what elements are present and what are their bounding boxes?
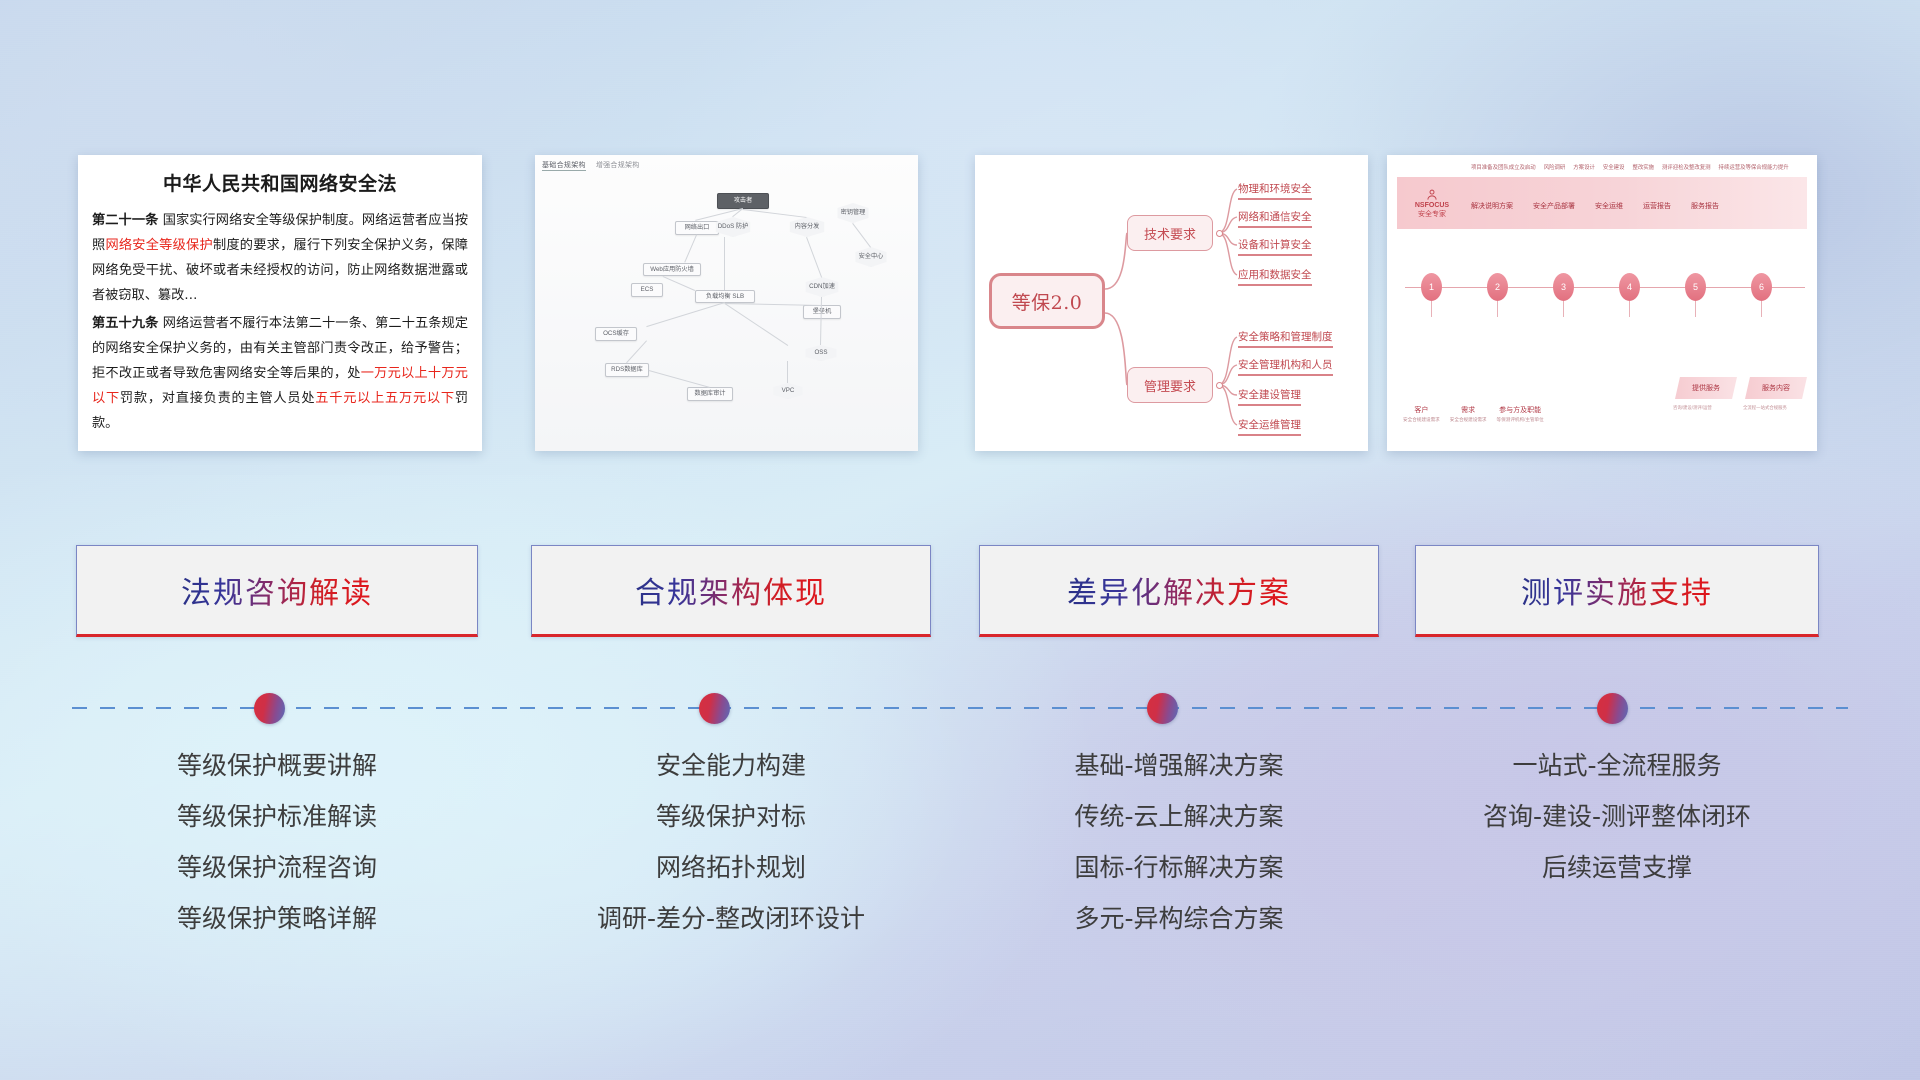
mindmap-leaf: 安全运维管理 bbox=[1238, 417, 1301, 436]
mindmap-collapse-dot-technical bbox=[1216, 230, 1223, 237]
service-list-item: 国标-行标解决方案 bbox=[979, 842, 1379, 893]
service-deliverable-label: 运营报告 bbox=[1643, 201, 1671, 211]
architecture-connector bbox=[725, 303, 822, 306]
service-step-number: 3 bbox=[1553, 273, 1574, 301]
architecture-connector bbox=[684, 235, 697, 263]
law-article-59-highlight-2: 五千元以上五万元以下 bbox=[315, 391, 455, 406]
architecture-node: OSS bbox=[803, 345, 839, 361]
slide-stage: 中华人民共和国网络安全法 第二十一条 国家实行网络安全等级保护制度。网络运营者应… bbox=[0, 0, 1920, 1080]
timeline-dashed-line bbox=[72, 707, 1848, 709]
category-label-row: 法规咨询解读 合规架构体现 差异化解决方案 测评实施支持 bbox=[0, 545, 1920, 637]
service-list-item: 等级保护策略详解 bbox=[76, 893, 478, 944]
service-tag-service-content-sub: 全流程一站式合规服务 bbox=[1743, 405, 1787, 411]
service-list-item: 咨询-建设-测评整体闭环 bbox=[1415, 791, 1819, 842]
service-step-tick bbox=[1431, 301, 1432, 317]
service-list-item: 安全能力构建 bbox=[531, 740, 931, 791]
architecture-node: DDoS 防护 bbox=[713, 217, 753, 237]
service-list-item: 一站式-全流程服务 bbox=[1415, 740, 1819, 791]
service-footer-item: 客户安全合规建设需求 bbox=[1403, 405, 1440, 423]
mindmap-root-node: 等保2.0 bbox=[989, 273, 1105, 329]
service-list-item: 网络拓扑规划 bbox=[531, 842, 931, 893]
mindmap-leaf: 网络和通信安全 bbox=[1238, 209, 1312, 228]
mindmap-leaf: 安全建设管理 bbox=[1238, 387, 1301, 406]
timeline-marker-4[interactable] bbox=[1597, 693, 1628, 724]
service-phase-label: 整改实施 bbox=[1632, 163, 1654, 171]
service-list-column-4: 一站式-全流程服务咨询-建设-测评整体闭环后续运营支撑 bbox=[1415, 740, 1819, 893]
timeline-marker-1[interactable] bbox=[254, 693, 285, 724]
mindmap-leaf: 设备和计算安全 bbox=[1238, 237, 1312, 256]
service-list-item: 多元-异构综合方案 bbox=[979, 893, 1379, 944]
category-label-box-1[interactable]: 法规咨询解读 bbox=[76, 545, 478, 637]
architecture-connector bbox=[663, 276, 695, 291]
service-list-row: 等级保护概要讲解等级保护标准解读等级保护流程咨询等级保护策略详解 安全能力构建等… bbox=[0, 740, 1920, 960]
cloud-architecture-diagram: 基础合规架构 增强合规架构 攻击者网络出口Web应用防火墙DDoS 防护内容分发… bbox=[535, 155, 918, 451]
service-tag-report-review-sub: 咨询/建设/测评/运营 bbox=[1673, 405, 1712, 411]
architecture-node: 内容分发 bbox=[787, 217, 827, 237]
architecture-connector bbox=[743, 209, 807, 218]
law-article-59: 第五十九条 网络运营者不履行本法第二十一条、第二十五条规定的网络安全保护义务的，… bbox=[92, 311, 468, 436]
service-phase-label: 持续运营及等保合规能力提升 bbox=[1719, 163, 1789, 171]
service-list-item: 等级保护概要讲解 bbox=[76, 740, 478, 791]
timeline-row bbox=[0, 688, 1920, 728]
service-list-item: 等级保护对标 bbox=[531, 791, 931, 842]
service-timeline-diagram: NSFOCUS 安全专家 项目准备及团队成立及启动风险调研方案设计安全建设整改实… bbox=[1387, 155, 1817, 451]
architecture-tab-row: 基础合规架构 增强合规架构 bbox=[542, 160, 640, 171]
mindmap-diagram: 等保2.0 技术要求 管理要求 物理和环境安全网络和通信安全设备和计算安全应用和… bbox=[975, 155, 1368, 451]
timeline-marker-2[interactable] bbox=[699, 693, 730, 724]
service-tag-report-review: 提供服务 bbox=[1675, 377, 1737, 399]
service-list-item: 传统-云上解决方案 bbox=[979, 791, 1379, 842]
service-footer-row: 客户安全合规建设需求需求安全合规建设需求参与方及职能等保测评机构/主管单位 bbox=[1403, 405, 1544, 423]
architecture-node: Web应用防火墙 bbox=[643, 263, 701, 276]
nsfocus-logo-line2: 安全专家 bbox=[1418, 211, 1446, 220]
law-article-59-text-b: 罚款，对直接负责的主管人员处 bbox=[120, 391, 315, 406]
service-phase-label: 风险调研 bbox=[1544, 163, 1566, 171]
cloud-architecture-card: 基础合规架构 增强合规架构 攻击者网络出口Web应用防火墙DDoS 防护内容分发… bbox=[535, 155, 918, 451]
law-article-21: 第二十一条 国家实行网络安全等级保护制度。网络运营者应当按照网络安全等级保护制度… bbox=[92, 208, 468, 308]
mindmap-leaf: 安全管理机构和人员 bbox=[1238, 357, 1333, 376]
architecture-connector bbox=[649, 370, 710, 388]
mindmap-card: 等保2.0 技术要求 管理要求 物理和环境安全网络和通信安全设备和计算安全应用和… bbox=[975, 155, 1368, 451]
law-document-card: 中华人民共和国网络安全法 第二十一条 国家实行网络安全等级保护制度。网络运营者应… bbox=[78, 155, 482, 451]
service-step-tick bbox=[1695, 301, 1696, 317]
architecture-connector bbox=[820, 297, 822, 345]
law-article-21-highlight: 网络安全等级保护 bbox=[105, 238, 213, 253]
service-list-column-2: 安全能力构建等级保护对标网络拓扑规划调研-差分-整改闭环设计 bbox=[531, 740, 931, 944]
category-label-text-4: 测评实施支持 bbox=[1521, 568, 1713, 612]
service-footer-item-title: 参与方及职能 bbox=[1497, 405, 1544, 415]
service-footer-item: 参与方及职能等保测评机构/主管单位 bbox=[1497, 405, 1544, 423]
service-step-number: 4 bbox=[1619, 273, 1640, 301]
category-label-text-1: 法规咨询解读 bbox=[181, 568, 373, 612]
service-step-tick bbox=[1497, 301, 1498, 317]
category-label-box-2[interactable]: 合规架构体现 bbox=[531, 545, 931, 637]
category-label-box-3[interactable]: 差异化解决方案 bbox=[979, 545, 1379, 637]
architecture-connector bbox=[724, 303, 788, 346]
service-list-item: 基础-增强解决方案 bbox=[979, 740, 1379, 791]
architecture-tab-enhanced: 增强合规架构 bbox=[596, 160, 640, 171]
architecture-connector bbox=[626, 340, 647, 363]
nsfocus-logo-line1: NSFOCUS bbox=[1415, 202, 1449, 211]
architecture-node: 网络出口 bbox=[675, 221, 719, 235]
expert-person-icon bbox=[1425, 188, 1439, 202]
architecture-connector bbox=[647, 302, 725, 327]
mindmap-collapse-dot-management bbox=[1216, 382, 1223, 389]
service-timeline-axis bbox=[1405, 287, 1805, 288]
category-label-text-3: 差异化解决方案 bbox=[1067, 568, 1291, 612]
service-footer-item-sub: 安全合规建设需求 bbox=[1403, 417, 1440, 423]
service-step-tick bbox=[1563, 301, 1564, 317]
law-article-59-label: 第五十九条 bbox=[92, 316, 158, 331]
service-step-number: 2 bbox=[1487, 273, 1508, 301]
nsfocus-logo: NSFOCUS 安全专家 bbox=[1401, 183, 1463, 225]
service-deliverable-label: 安全运维 bbox=[1595, 201, 1623, 211]
service-phase-label: 安全建设 bbox=[1603, 163, 1625, 171]
category-label-box-4[interactable]: 测评实施支持 bbox=[1415, 545, 1819, 637]
mindmap-leaf: 物理和环境安全 bbox=[1238, 181, 1312, 200]
service-phase-label: 测评迎检及整改复测 bbox=[1662, 163, 1711, 171]
mindmap-branch-management: 管理要求 bbox=[1127, 367, 1213, 403]
architecture-tab-basic: 基础合规架构 bbox=[542, 160, 586, 171]
service-list-item: 调研-差分-整改闭环设计 bbox=[531, 893, 931, 944]
service-tag-service-content: 服务内容 bbox=[1745, 377, 1807, 399]
service-footer-item-sub: 等保测评机构/主管单位 bbox=[1497, 417, 1544, 423]
service-phase-label: 方案设计 bbox=[1573, 163, 1595, 171]
architecture-connector bbox=[852, 223, 871, 248]
architecture-node: CDN加速 bbox=[803, 277, 841, 297]
service-step-tick bbox=[1629, 301, 1630, 317]
timeline-marker-3[interactable] bbox=[1147, 693, 1178, 724]
service-deliverable-label: 服务报告 bbox=[1691, 201, 1719, 211]
service-list-item: 后续运营支撑 bbox=[1415, 842, 1819, 893]
law-article-21-label: 第二十一条 bbox=[92, 213, 158, 228]
architecture-node: 攻击者 bbox=[717, 193, 769, 209]
law-title: 中华人民共和国网络安全法 bbox=[92, 169, 468, 196]
service-deliverable-label: 安全产品部署 bbox=[1533, 201, 1575, 211]
service-footer-item: 需求安全合规建设需求 bbox=[1450, 405, 1487, 423]
service-step-tick bbox=[1761, 301, 1762, 317]
architecture-connector bbox=[724, 237, 725, 290]
service-footer-item-title: 客户 bbox=[1403, 405, 1440, 415]
service-list-column-1: 等级保护概要讲解等级保护标准解读等级保护流程咨询等级保护策略详解 bbox=[76, 740, 478, 944]
law-document-body: 中华人民共和国网络安全法 第二十一条 国家实行网络安全等级保护制度。网络运营者应… bbox=[78, 155, 482, 451]
service-phase-label-row: 项目准备及团队成立及启动风险调研方案设计安全建设整改实施测评迎检及整改复测持续运… bbox=[1471, 163, 1789, 171]
service-footer-item-title: 需求 bbox=[1450, 405, 1487, 415]
service-timeline-card: NSFOCUS 安全专家 项目准备及团队成立及启动风险调研方案设计安全建设整改实… bbox=[1387, 155, 1817, 451]
service-footer-item-sub: 安全合规建设需求 bbox=[1450, 417, 1487, 423]
mindmap-leaf: 安全策略和管理制度 bbox=[1238, 329, 1333, 348]
architecture-node: 堡垒机 bbox=[803, 305, 841, 319]
architecture-node: 安全中心 bbox=[853, 247, 889, 267]
architecture-node: 负载均衡 SLB bbox=[695, 290, 755, 303]
architecture-node: VPC bbox=[771, 383, 805, 399]
category-label-text-2: 合规架构体现 bbox=[635, 568, 827, 612]
service-deliverable-label: 解决说明方案 bbox=[1471, 201, 1513, 211]
service-list-item: 等级保护标准解读 bbox=[76, 791, 478, 842]
service-list-item: 等级保护流程咨询 bbox=[76, 842, 478, 893]
service-phase-label: 项目准备及团队成立及启动 bbox=[1471, 163, 1536, 171]
architecture-node: RDS数据库 bbox=[605, 363, 649, 377]
architecture-connector bbox=[787, 361, 788, 383]
service-step-number: 5 bbox=[1685, 273, 1706, 301]
architecture-node: ECS bbox=[631, 283, 663, 297]
architecture-node: OCS缓存 bbox=[595, 327, 637, 341]
service-deliverable-row: 解决说明方案安全产品部署安全运维运营报告服务报告 bbox=[1471, 201, 1719, 211]
architecture-connector bbox=[806, 237, 822, 277]
image-card-row: 中华人民共和国网络安全法 第二十一条 国家实行网络安全等级保护制度。网络运营者应… bbox=[0, 155, 1920, 451]
architecture-node: 数据库审计 bbox=[687, 387, 733, 401]
architecture-node: 密钥管理 bbox=[835, 203, 871, 223]
mindmap-branch-technical: 技术要求 bbox=[1127, 215, 1213, 251]
mindmap-leaf: 应用和数据安全 bbox=[1238, 267, 1312, 286]
service-step-number: 6 bbox=[1751, 273, 1772, 301]
service-step-number: 1 bbox=[1421, 273, 1442, 301]
service-list-column-3: 基础-增强解决方案传统-云上解决方案国标-行标解决方案多元-异构综合方案 bbox=[979, 740, 1379, 944]
